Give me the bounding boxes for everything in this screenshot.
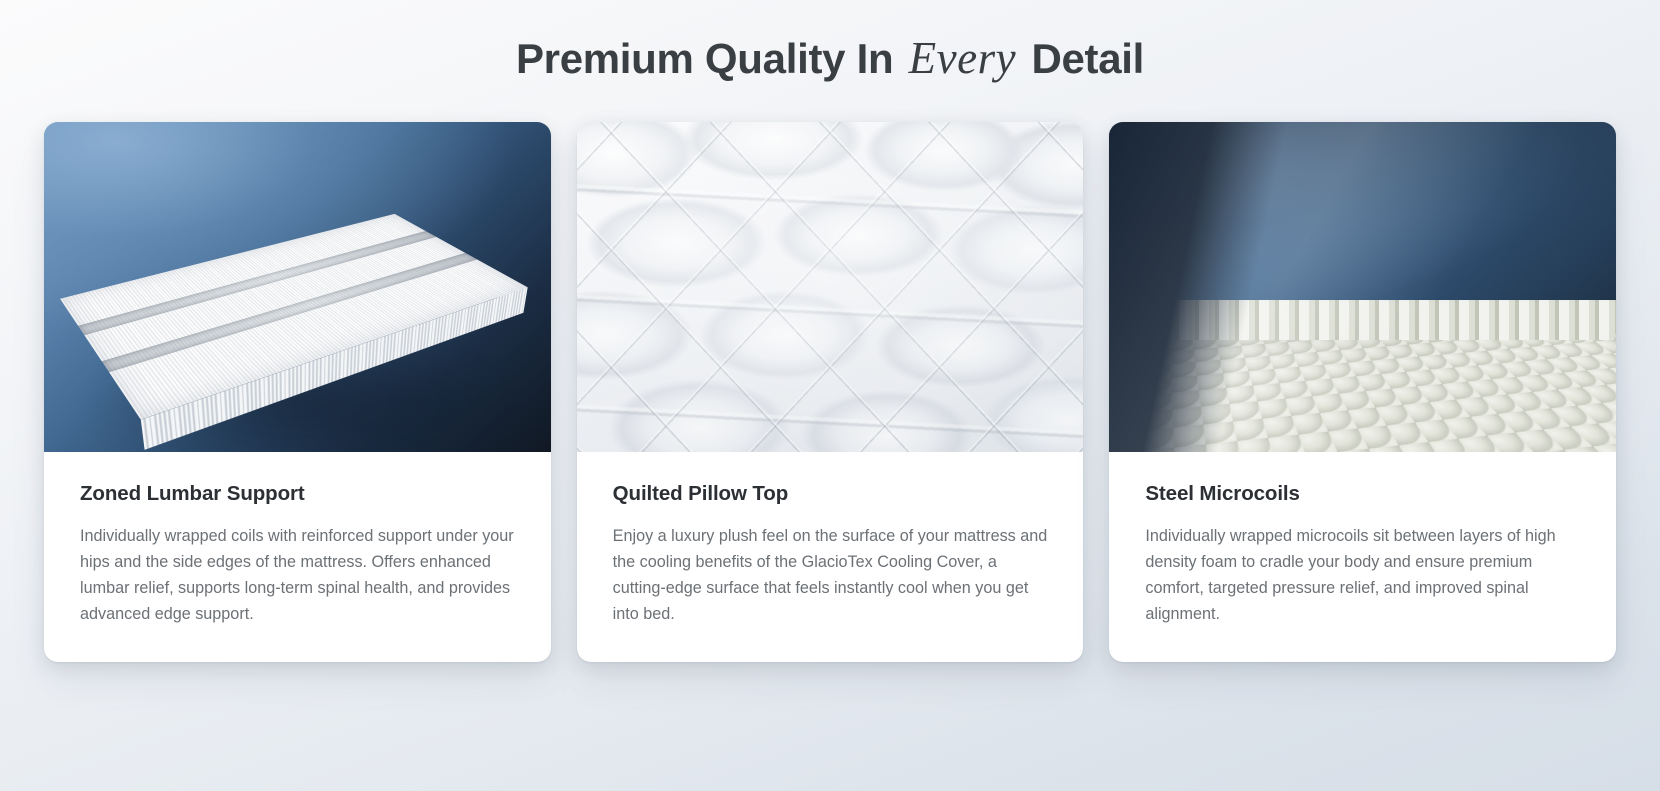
card-title: Zoned Lumbar Support [80,482,515,506]
quilted-pillow-top-image [577,122,1084,452]
page-title-trail: Detail [1031,35,1144,82]
card-body: Zoned Lumbar Support Individually wrappe… [44,452,551,662]
page-title-emphasis: Every [905,33,1020,83]
card-title: Steel Microcoils [1145,482,1580,506]
feature-card[interactable]: Quilted Pillow Top Enjoy a luxury plush … [577,122,1084,662]
feature-card[interactable]: Zoned Lumbar Support Individually wrappe… [44,122,551,662]
page-title-lead: Premium Quality In [516,35,893,82]
card-body: Steel Microcoils Individually wrapped mi… [1109,452,1616,662]
zoned-pocket-coil-unit-image [44,122,551,452]
card-description: Individually wrapped coils with reinforc… [80,523,515,628]
quilt-shading [577,122,1084,452]
microcoil-sheen [1109,122,1616,452]
card-description: Individually wrapped microcoils sit betw… [1145,523,1580,628]
page-title: Premium Quality In Every Detail [0,0,1660,85]
feature-card[interactable]: Steel Microcoils Individually wrapped mi… [1109,122,1616,662]
steel-microcoils-image [1109,122,1616,452]
coil-slab [82,178,512,408]
card-body: Quilted Pillow Top Enjoy a luxury plush … [577,452,1084,662]
card-description: Enjoy a luxury plush feel on the surface… [613,523,1048,628]
feature-card-grid: Zoned Lumbar Support Individually wrappe… [0,122,1660,662]
card-title: Quilted Pillow Top [613,482,1048,506]
